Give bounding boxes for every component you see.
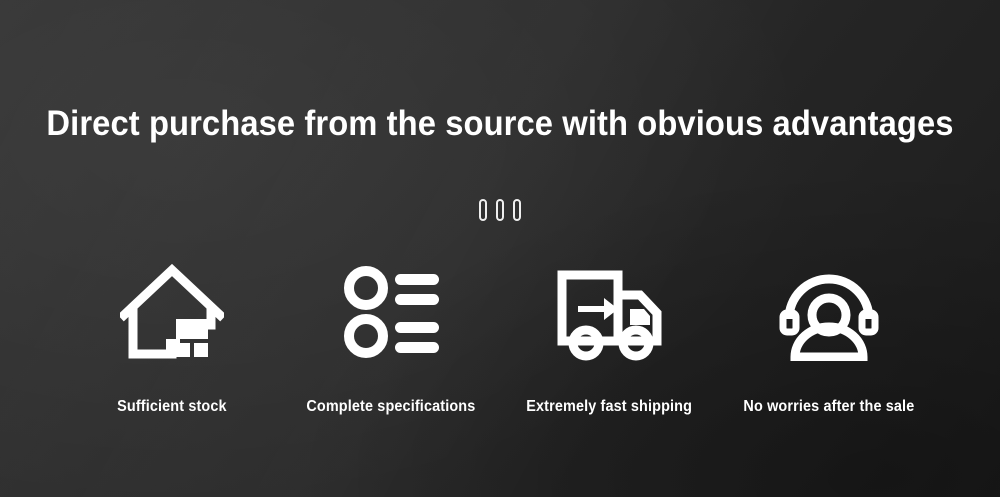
feature-list: Sufficient stock Complete specifications <box>0 258 1000 416</box>
feature-label: Extremely fast shipping <box>527 398 693 416</box>
delivery-truck-icon <box>556 258 664 366</box>
feature-item-complete-specifications[interactable]: Complete specifications <box>281 258 500 416</box>
warehouse-stock-icon <box>120 258 224 366</box>
promo-banner: Direct purchase from the source with obv… <box>0 0 1000 497</box>
specification-list-icon <box>339 258 443 366</box>
feature-item-fast-shipping[interactable]: Extremely fast shipping <box>500 258 719 416</box>
feature-item-sufficient-stock[interactable]: Sufficient stock <box>62 258 281 416</box>
feature-item-after-sale-support[interactable]: No worries after the sale <box>719 258 938 416</box>
page-title: Direct purchase from the source with obv… <box>33 103 968 145</box>
headset-support-icon <box>777 258 881 366</box>
divider-pill-2 <box>496 199 504 221</box>
feature-label: No worries after the sale <box>743 398 914 416</box>
divider-pill-3 <box>513 199 521 221</box>
feature-label: Complete specifications <box>306 398 475 416</box>
feature-label: Sufficient stock <box>117 398 227 416</box>
three-pill-divider <box>0 199 1000 221</box>
divider-pill-1 <box>479 199 487 221</box>
